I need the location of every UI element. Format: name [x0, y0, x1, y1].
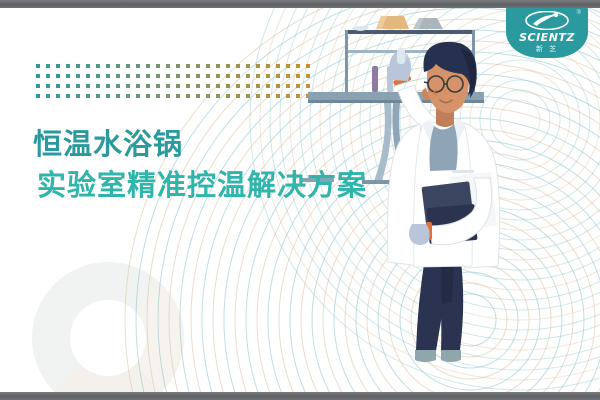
dot	[206, 74, 210, 78]
dot	[206, 64, 210, 68]
dot	[206, 84, 210, 88]
dot	[236, 94, 240, 98]
viewer-bottom-bar	[0, 392, 600, 400]
dot	[126, 84, 130, 88]
dot	[226, 84, 230, 88]
dot	[146, 94, 150, 98]
dot	[276, 94, 280, 98]
logo-wordmark-cn: 新 芝	[506, 44, 588, 54]
dot	[216, 64, 220, 68]
dot	[46, 94, 50, 98]
registered-mark: ®	[577, 10, 581, 16]
dot	[286, 64, 290, 68]
dot	[86, 94, 90, 98]
dot	[136, 84, 140, 88]
dot	[96, 64, 100, 68]
dot	[76, 94, 80, 98]
dot	[286, 84, 290, 88]
dot	[66, 64, 70, 68]
dot	[266, 74, 270, 78]
dot	[46, 84, 50, 88]
dot	[236, 64, 240, 68]
shelf-equipment	[352, 16, 443, 31]
dot	[36, 84, 40, 88]
dot	[156, 94, 160, 98]
dot	[196, 74, 200, 78]
scientist-figure	[388, 42, 500, 362]
dot	[96, 94, 100, 98]
dot	[106, 74, 110, 78]
dot	[96, 84, 100, 88]
dot	[256, 64, 260, 68]
dot	[56, 94, 60, 98]
dot	[216, 94, 220, 98]
dot	[36, 94, 40, 98]
dot	[96, 74, 100, 78]
dot	[116, 74, 120, 78]
dot	[56, 64, 60, 68]
headline-block: 恒温水浴锅 实验室精准控温解决方案	[33, 124, 367, 206]
headline-line-2: 实验室精准控温解决方案	[33, 164, 367, 206]
dot	[76, 84, 80, 88]
dot	[76, 74, 80, 78]
dot	[66, 94, 70, 98]
dot	[156, 74, 160, 78]
dot	[166, 84, 170, 88]
dot	[246, 64, 250, 68]
dot	[276, 74, 280, 78]
dot	[226, 94, 230, 98]
dot	[146, 64, 150, 68]
dot	[196, 64, 200, 68]
dot	[166, 74, 170, 78]
dot	[176, 94, 180, 98]
dot	[256, 74, 260, 78]
dot	[86, 64, 90, 68]
dot	[116, 64, 120, 68]
dot-grid-row	[36, 64, 316, 74]
dot	[126, 74, 130, 78]
dot	[176, 84, 180, 88]
dot	[186, 74, 190, 78]
dot	[136, 74, 140, 78]
dot	[246, 74, 250, 78]
dot	[146, 74, 150, 78]
dot	[186, 94, 190, 98]
dot	[266, 94, 270, 98]
dot	[266, 64, 270, 68]
dot	[226, 64, 230, 68]
dot	[126, 94, 130, 98]
dot	[36, 64, 40, 68]
dot	[116, 84, 120, 88]
dot	[46, 64, 50, 68]
dot-grid-gradient	[36, 64, 316, 104]
dot	[86, 84, 90, 88]
headline-line-1: 恒温水浴锅	[33, 124, 367, 164]
dot	[236, 84, 240, 88]
dot	[156, 84, 160, 88]
dot	[196, 84, 200, 88]
dot	[146, 84, 150, 88]
dot	[66, 84, 70, 88]
dot	[236, 74, 240, 78]
brand-logo[interactable]: ® SCIENTZ 新 芝	[506, 4, 588, 60]
viewer-top-bar	[0, 0, 600, 8]
dot	[156, 64, 160, 68]
dot	[276, 64, 280, 68]
dot	[56, 84, 60, 88]
dot	[136, 64, 140, 68]
dot	[36, 74, 40, 78]
dot	[216, 74, 220, 78]
dot	[166, 94, 170, 98]
promo-banner: 恒温水浴锅 实验室精准控温解决方案	[0, 0, 600, 400]
dot	[166, 64, 170, 68]
dot	[186, 84, 190, 88]
dot	[276, 84, 280, 88]
dot	[176, 74, 180, 78]
dot	[246, 84, 250, 88]
dot	[226, 74, 230, 78]
dot	[46, 74, 50, 78]
dot	[56, 74, 60, 78]
dot	[76, 64, 80, 68]
logo-wordmark: SCIENTZ	[506, 31, 588, 44]
dot	[66, 74, 70, 78]
dot	[176, 64, 180, 68]
dot	[286, 94, 290, 98]
shoes	[415, 350, 461, 362]
dot	[256, 94, 260, 98]
dot	[106, 64, 110, 68]
dot	[86, 74, 90, 78]
dot	[126, 64, 130, 68]
dot	[106, 84, 110, 88]
dot-grid-row	[36, 94, 316, 104]
dot	[116, 94, 120, 98]
dot	[216, 84, 220, 88]
dot	[266, 84, 270, 88]
dot-grid-row	[36, 74, 316, 84]
dot-grid-row	[36, 84, 316, 94]
dot	[206, 94, 210, 98]
dot	[106, 94, 110, 98]
dot	[136, 94, 140, 98]
dot	[196, 94, 200, 98]
dot	[256, 84, 260, 88]
dot	[286, 74, 290, 78]
dot	[186, 64, 190, 68]
dot	[246, 94, 250, 98]
swoosh-emblem-icon	[525, 11, 569, 30]
